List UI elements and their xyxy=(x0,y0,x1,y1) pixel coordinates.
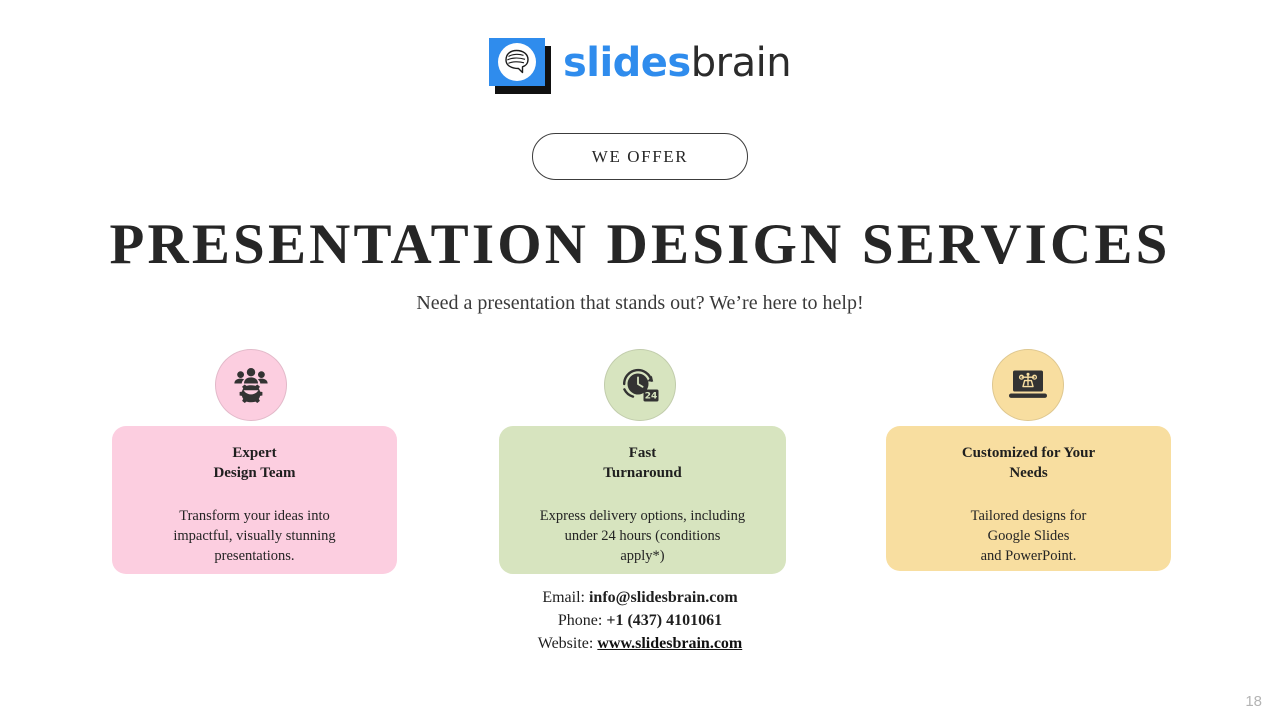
service-card: Customized for Your Needs Tailored desig… xyxy=(886,426,1171,571)
contact-block: Email: info@slidesbrain.com Phone: +1 (4… xyxy=(0,586,1280,656)
contact-phone-value[interactable]: +1 (437) 4101061 xyxy=(606,612,722,629)
contact-website-label: Website: xyxy=(538,635,598,652)
brand-wordmark-slides: slides xyxy=(563,40,691,86)
contact-email-row: Email: info@slidesbrain.com xyxy=(0,586,1280,609)
contact-email-label: Email: xyxy=(542,589,589,606)
svg-text:24: 24 xyxy=(645,391,658,401)
badge-customized-needs xyxy=(992,349,1064,421)
contact-website-row: Website: www.slidesbrain.com xyxy=(0,632,1280,655)
contact-phone-row: Phone: +1 (437) 4101061 xyxy=(0,609,1280,632)
logo-circle xyxy=(498,43,536,81)
we-offer-badge: WE OFFER xyxy=(532,133,748,180)
service-card: Expert Design Team Transform your ideas … xyxy=(112,426,397,574)
card-body: Tailored designs for Google Slides and P… xyxy=(900,506,1157,566)
logo-square xyxy=(489,38,545,86)
laptop-design-icon xyxy=(1007,368,1049,402)
brand-logo: slidesbrain xyxy=(0,38,1280,88)
eyebrow-container: WE OFFER xyxy=(0,133,1280,180)
card-title: Expert Design Team xyxy=(126,444,383,484)
slide-canvas: slidesbrain WE OFFER PRESENTATION DESIGN… xyxy=(0,0,1280,720)
page-number: 18 xyxy=(1245,693,1262,710)
logo-mark xyxy=(489,38,549,88)
contact-email-value[interactable]: info@slidesbrain.com xyxy=(589,589,738,606)
brain-icon xyxy=(502,48,532,76)
card-title: Customized for Your Needs xyxy=(900,444,1157,484)
badge-fast-turnaround: 24 xyxy=(604,349,676,421)
service-card: Fast Turnaround Express delivery options… xyxy=(499,426,786,574)
brand-wordmark-brain: brain xyxy=(691,40,791,86)
brand-wordmark: slidesbrain xyxy=(563,43,791,83)
card-body: Express delivery options, including unde… xyxy=(513,506,772,566)
card-body: Transform your ideas into impactful, vis… xyxy=(126,506,383,566)
badge-expert-design-team xyxy=(215,349,287,421)
team-gear-icon xyxy=(231,366,271,404)
card-title: Fast Turnaround xyxy=(513,444,772,484)
clock-24-hours-icon: 24 xyxy=(619,365,661,405)
page-subtitle: Need a presentation that stands out? We’… xyxy=(0,292,1280,315)
contact-website-link[interactable]: www.slidesbrain.com xyxy=(597,635,742,652)
page-title: PRESENTATION DESIGN SERVICES xyxy=(0,214,1280,277)
contact-phone-label: Phone: xyxy=(558,612,606,629)
